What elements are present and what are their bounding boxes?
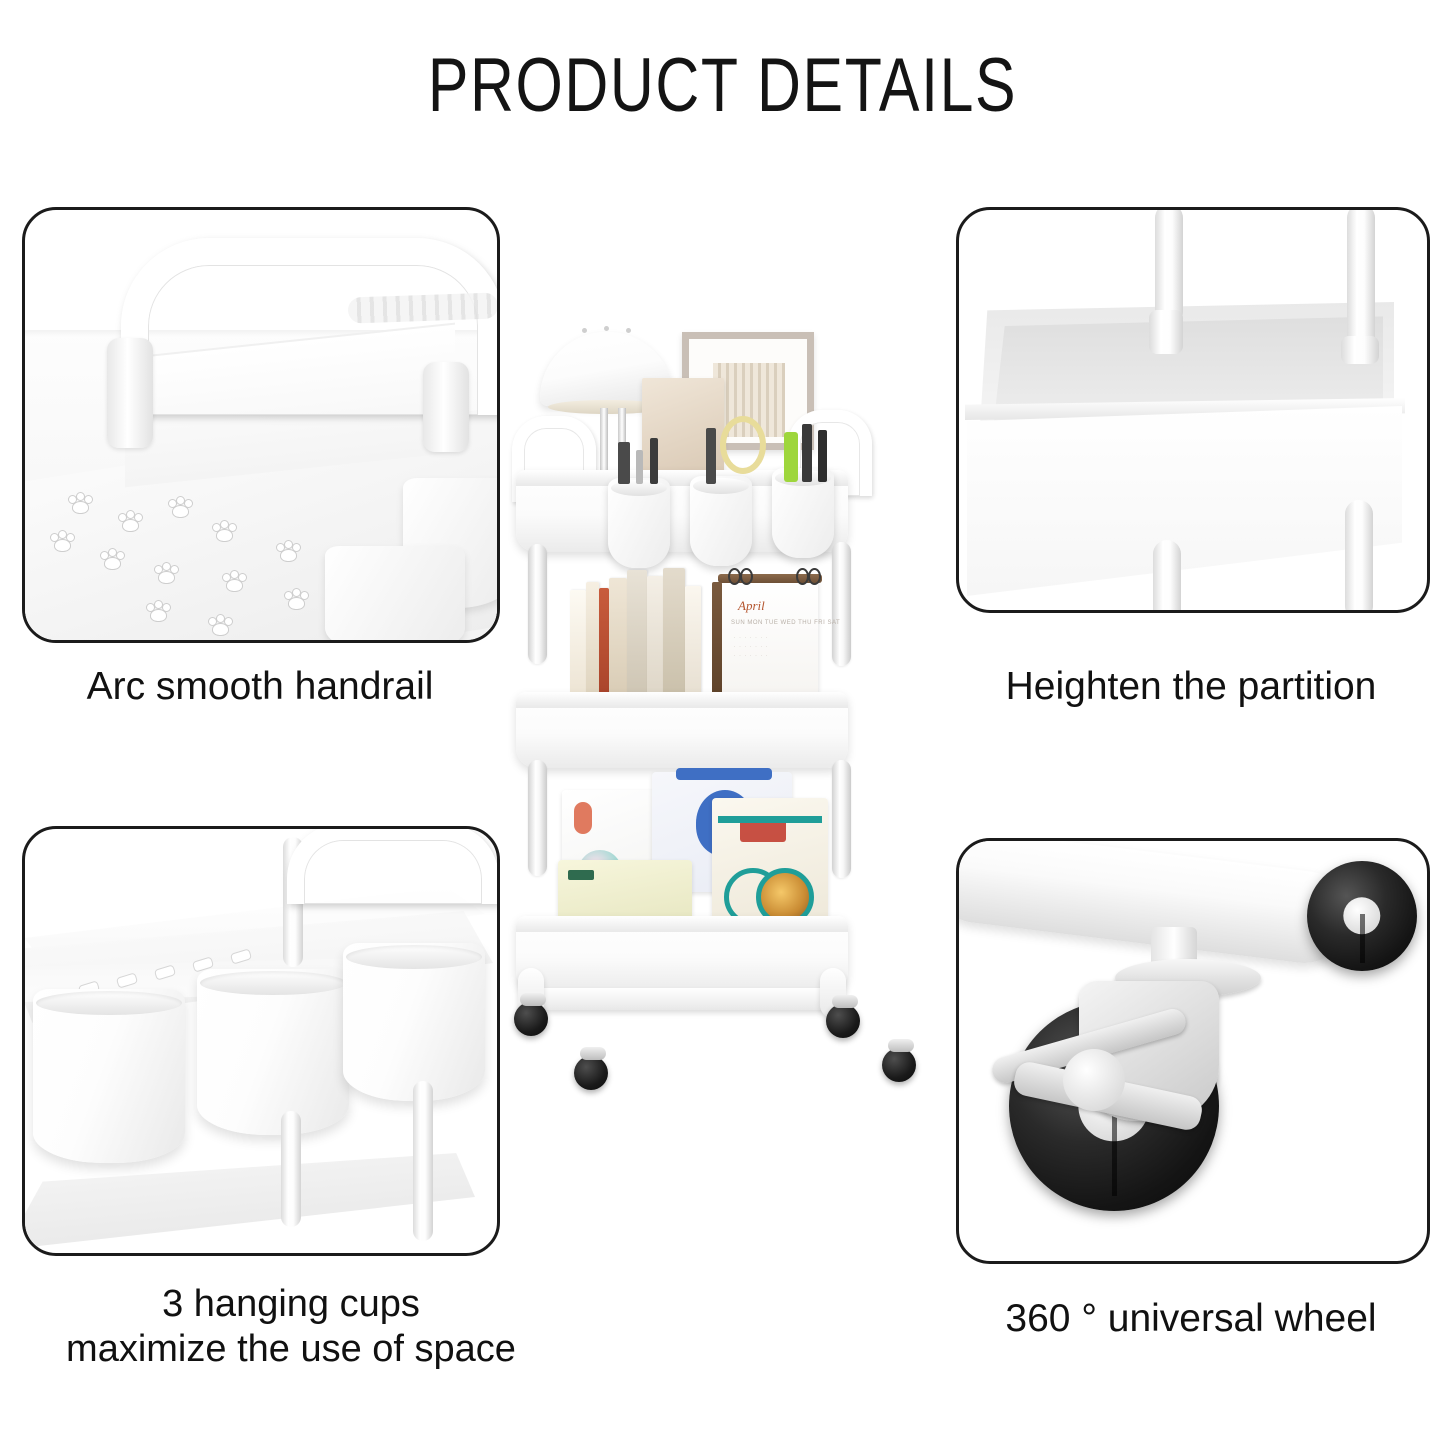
caster-axle-cap <box>1063 1049 1125 1111</box>
calendar-ring <box>808 568 821 585</box>
pen-item <box>650 438 658 484</box>
paw-hole <box>67 492 93 512</box>
paw-hole <box>167 496 193 516</box>
handrail-socket-right <box>423 362 469 452</box>
handrail-grip-ribs <box>348 292 499 323</box>
cart-hanging-cup-2[interactable] <box>690 476 752 566</box>
calendar-stand <box>712 582 722 704</box>
product-image-rolling-cart: April SUN MON TUE WED THU FRI SAT · · · … <box>500 320 960 1160</box>
hanging-cup-2[interactable] <box>197 969 349 1135</box>
caster-wheel-rear-right <box>826 1004 860 1038</box>
paw-hole <box>211 520 237 540</box>
book-item <box>647 576 663 702</box>
lamp-pin <box>626 328 631 333</box>
cart-hanging-cup-1[interactable] <box>608 478 670 568</box>
lamp-pin <box>582 328 587 333</box>
caption-universal-wheel: 360 ° universal wheel <box>945 1296 1437 1342</box>
cereal-stripe-teal <box>718 816 822 823</box>
snack-label-green <box>568 870 594 880</box>
vertical-pole-right <box>413 1081 433 1241</box>
paw-hole <box>283 588 309 608</box>
caster-wheel-front-left <box>574 1056 608 1090</box>
cart-pole-left-lower <box>528 760 547 876</box>
detail-photo-universal-wheel <box>956 838 1430 1264</box>
hanging-cup-partial <box>325 546 465 643</box>
marker-item <box>802 424 812 482</box>
cart-pole-right-upper <box>832 542 851 666</box>
book-item <box>570 590 586 702</box>
hanging-cup-3[interactable] <box>343 943 485 1101</box>
vertical-pole-center-lower <box>1153 540 1181 613</box>
detail-photo-hanging-cups <box>22 826 500 1256</box>
hanging-cup-1[interactable] <box>33 989 185 1163</box>
cart-pole-right-lower <box>832 760 851 878</box>
product-details-infographic: PRODUCT DETAILS Arc smooth handrail <box>0 0 1445 1445</box>
paw-hole <box>275 540 301 560</box>
paw-hole <box>99 548 125 568</box>
paw-hole <box>153 562 179 582</box>
detail-photo-arc-handrail <box>22 207 500 643</box>
handrail-socket-left <box>107 338 153 448</box>
detail-photo-heighten-partition <box>956 207 1430 613</box>
pen-item <box>818 430 827 482</box>
caption-heighten-partition: Heighten the partition <box>945 664 1437 710</box>
pole-connector-center <box>1149 310 1183 354</box>
lamp-pin <box>604 326 609 331</box>
vertical-pole-center-upper <box>1155 207 1183 326</box>
paw-hole <box>221 570 247 590</box>
cart-basket-bottom <box>516 916 848 992</box>
scissors-handle <box>720 416 766 474</box>
snack-graphic-red <box>574 802 592 834</box>
highlighter-item <box>784 432 798 482</box>
book-item <box>663 568 685 702</box>
book-item <box>599 588 609 702</box>
cart-pole-left-upper <box>528 544 547 664</box>
paw-hole <box>117 510 143 530</box>
handrail-tube-partial <box>287 826 499 904</box>
cart-base-frame-front <box>526 988 838 1010</box>
book-item <box>586 582 599 702</box>
caster-wheel-rear-left <box>514 1002 548 1036</box>
book-item <box>685 586 701 702</box>
lower-shelf <box>22 1153 475 1256</box>
pole-connector-right <box>1341 336 1379 364</box>
desk-calendar: April SUN MON TUE WED THU FRI SAT · · · … <box>722 580 818 700</box>
page-title: PRODUCT DETAILS <box>145 42 1301 129</box>
basket-front-panel <box>967 406 1402 596</box>
paw-hole <box>49 530 75 550</box>
calendar-weekday-row: SUN MON TUE WED THU FRI SAT <box>731 620 840 626</box>
vertical-pole-right-upper <box>1347 207 1375 356</box>
snack-graphic-blue-bar <box>676 768 772 780</box>
caster-wheel-background <box>1307 861 1417 971</box>
caster-wheel-front-right <box>882 1048 916 1082</box>
book-item <box>609 578 627 702</box>
stapler-item <box>618 442 630 484</box>
calendar-month-label: April <box>738 598 765 614</box>
pen-item <box>636 450 643 484</box>
paw-hole <box>207 614 233 634</box>
caption-hanging-cups: 3 hanging cups maximize the use of space <box>6 1282 576 1372</box>
lamp-stem <box>600 408 608 476</box>
calendar-ring <box>740 568 753 585</box>
vertical-pole-center-lower <box>281 1111 301 1227</box>
book-item <box>627 570 647 702</box>
vertical-pole-right-lower <box>1345 500 1373 613</box>
scissors-blade <box>706 428 716 484</box>
cart-basket-middle <box>516 692 848 768</box>
paw-hole <box>145 600 171 620</box>
calendar-grid: · · · · · · · · · · · · · · · · · · · · … <box>732 634 768 661</box>
caption-arc-handrail: Arc smooth handrail <box>10 664 510 710</box>
